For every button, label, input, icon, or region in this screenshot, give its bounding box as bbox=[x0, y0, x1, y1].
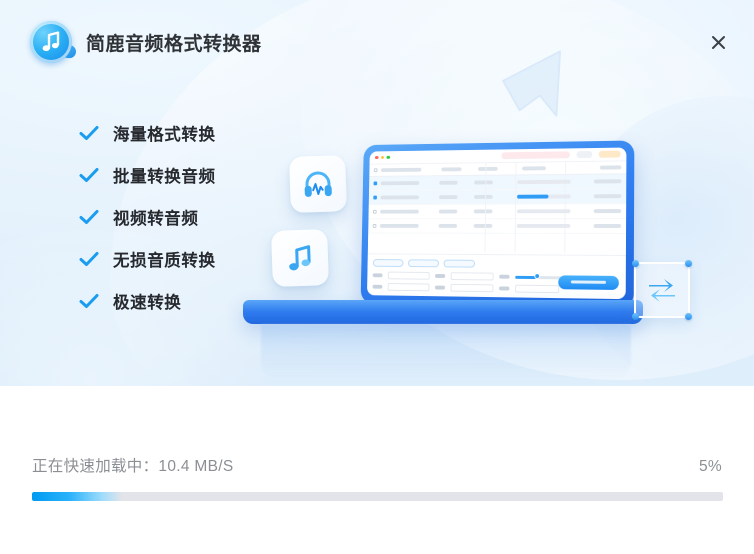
preview-settings-bar bbox=[367, 253, 626, 299]
preview-cell bbox=[439, 195, 458, 199]
feature-label: 海量格式转换 bbox=[113, 121, 216, 145]
preview-cell bbox=[439, 210, 458, 214]
swap-arrows-icon bbox=[634, 262, 690, 318]
preview-cell bbox=[438, 224, 457, 228]
feature-item: 海量格式转换 bbox=[78, 112, 278, 154]
feature-label: 极速转换 bbox=[113, 289, 181, 313]
preview-convert-button bbox=[558, 275, 619, 290]
app-title: 简鹿音频格式转换器 bbox=[86, 29, 262, 56]
preview-field-label bbox=[499, 275, 509, 279]
preview-select bbox=[388, 272, 430, 280]
check-icon bbox=[78, 122, 100, 144]
feature-list: 海量格式转换 批量转换音频 视频转音频 无损音质转换 bbox=[78, 112, 278, 322]
preview-cell bbox=[474, 224, 493, 228]
window-dot-close bbox=[375, 156, 378, 159]
preview-select bbox=[388, 283, 430, 291]
preview-checkbox bbox=[374, 182, 378, 186]
check-icon bbox=[78, 206, 100, 228]
preview-select bbox=[451, 272, 494, 280]
preview-pill-button bbox=[443, 260, 475, 268]
preview-toolbar-button bbox=[599, 151, 621, 158]
preview-table-row bbox=[368, 219, 626, 234]
preview-cell-actions bbox=[594, 194, 621, 198]
preview-cell bbox=[380, 210, 418, 214]
feature-label: 视频转音频 bbox=[113, 205, 199, 229]
preview-table-row bbox=[369, 189, 626, 205]
laptop-screen bbox=[361, 140, 635, 308]
preview-cell bbox=[380, 195, 418, 199]
preview-field-label bbox=[499, 286, 509, 290]
feature-item: 视频转音频 bbox=[78, 196, 278, 238]
check-icon bbox=[78, 290, 100, 312]
close-button[interactable] bbox=[702, 26, 734, 58]
progress-bar-fill bbox=[32, 492, 122, 501]
laptop-mockup bbox=[243, 140, 643, 340]
music-note-disc-icon bbox=[41, 31, 61, 53]
check-icon bbox=[78, 248, 100, 270]
corner-handle bbox=[685, 313, 692, 320]
preview-select bbox=[515, 285, 559, 293]
check-icon bbox=[78, 164, 100, 186]
preview-select bbox=[451, 284, 494, 292]
preview-header-cell bbox=[522, 166, 546, 170]
preview-checkbox bbox=[373, 210, 377, 214]
preview-cell bbox=[381, 181, 419, 185]
preview-field-label bbox=[373, 273, 383, 277]
feature-label: 无损音质转换 bbox=[113, 247, 216, 271]
preview-action-pills bbox=[373, 259, 620, 269]
feature-label: 批量转换音频 bbox=[113, 163, 216, 187]
preview-cell-actions bbox=[594, 209, 621, 213]
preview-notice-pill bbox=[502, 151, 570, 159]
preview-volume-slider bbox=[515, 275, 561, 278]
status-line: 正在快速加载中：10.4 MB/S 5% bbox=[32, 454, 722, 476]
preview-cell-actions bbox=[594, 179, 621, 183]
preview-cell-actions bbox=[594, 224, 621, 228]
preview-checkbox bbox=[373, 224, 377, 228]
preview-cell bbox=[380, 224, 418, 228]
download-status-text: 正在快速加载中：10.4 MB/S bbox=[32, 454, 233, 476]
preview-cell bbox=[439, 181, 458, 185]
preview-toolbar-button bbox=[577, 151, 593, 158]
preview-checkbox bbox=[374, 168, 378, 172]
preview-row-progress bbox=[518, 180, 571, 184]
preview-row-progress bbox=[517, 224, 570, 227]
corner-handle bbox=[632, 313, 639, 320]
app-window: 简鹿音频格式转换器 海量格式转换 批量转换音频 bbox=[0, 0, 754, 554]
corner-handle bbox=[685, 260, 692, 267]
preview-header-cell bbox=[478, 167, 498, 171]
preview-header-cell bbox=[381, 168, 421, 172]
window-dot-minimize bbox=[381, 156, 384, 159]
laptop-base bbox=[243, 300, 643, 324]
preview-row-progress bbox=[517, 209, 570, 213]
preview-field-label bbox=[435, 286, 445, 290]
feature-item: 批量转换音频 bbox=[78, 154, 278, 196]
preview-cell bbox=[474, 180, 493, 184]
download-footer: 正在快速加载中：10.4 MB/S 5% bbox=[0, 386, 754, 554]
promo-banner: 简鹿音频格式转换器 海量格式转换 批量转换音频 bbox=[0, 0, 754, 386]
preview-checkbox bbox=[373, 196, 377, 200]
corner-handle bbox=[632, 260, 639, 267]
preview-field-label bbox=[372, 285, 382, 289]
preview-field-label bbox=[435, 274, 445, 278]
preview-header-cell bbox=[441, 167, 461, 171]
preview-table-row bbox=[368, 204, 626, 219]
preview-pill-button bbox=[408, 259, 439, 267]
download-percent-text: 5% bbox=[699, 458, 722, 476]
app-preview-screen bbox=[367, 148, 626, 300]
preview-cell bbox=[474, 195, 493, 199]
preview-pill-button bbox=[373, 259, 404, 267]
window-dot-maximize bbox=[387, 156, 390, 159]
laptop-reflection bbox=[261, 324, 631, 380]
preview-header-cell bbox=[600, 165, 621, 169]
app-logo bbox=[30, 21, 72, 63]
feature-item: 无损音质转换 bbox=[78, 238, 278, 280]
close-icon bbox=[711, 35, 726, 50]
progress-bar bbox=[32, 492, 723, 501]
title-bar: 简鹿音频格式转换器 bbox=[0, 0, 754, 84]
feature-item: 极速转换 bbox=[78, 280, 278, 322]
preview-cell bbox=[474, 209, 493, 213]
preview-row-progress bbox=[518, 195, 571, 199]
